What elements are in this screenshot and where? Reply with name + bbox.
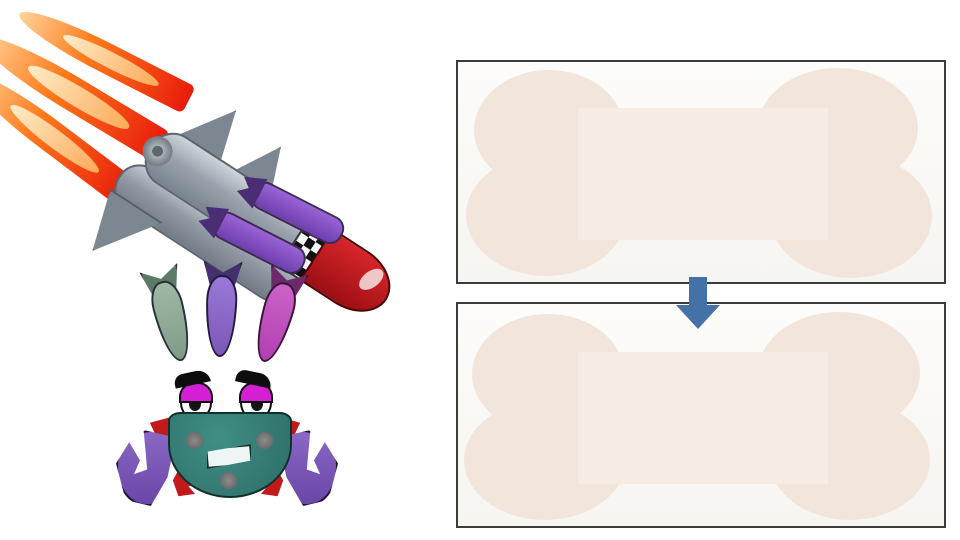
bomb-cd7i [200, 260, 237, 353]
active-t-cells-vs-aml-panel [456, 60, 946, 284]
crab-claw-left [116, 430, 176, 506]
leukemia-crab-icon [110, 360, 340, 525]
slide-canvas [0, 0, 960, 540]
left-illustration [0, 55, 440, 525]
progression-arrow-icon [672, 277, 724, 329]
memory-t-cells-panel [456, 302, 946, 528]
